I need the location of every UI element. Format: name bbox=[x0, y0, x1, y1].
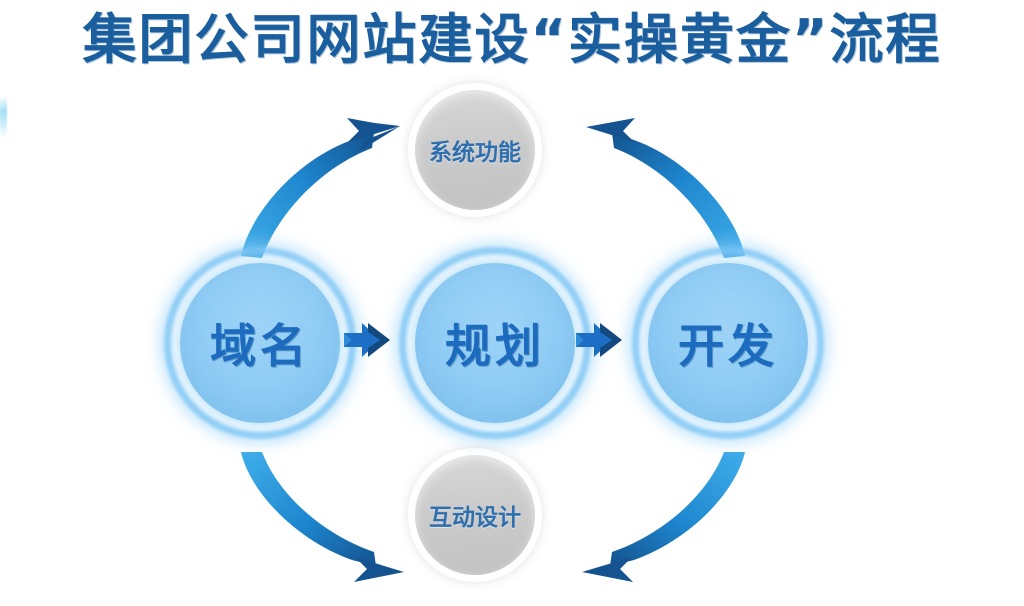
curved-arrow-domain-to-interaction-design bbox=[241, 452, 404, 582]
curved-arrow-dev-to-interaction-design bbox=[582, 452, 745, 582]
node-domain[interactable]: 域名 bbox=[180, 263, 340, 423]
node-plan[interactable]: 规划 bbox=[415, 263, 575, 423]
node-domain-label: 域名 bbox=[210, 310, 310, 376]
node-system-function[interactable]: 系统功能 bbox=[415, 90, 535, 210]
node-interaction-design[interactable]: 互动设计 bbox=[415, 455, 535, 575]
node-interaction-design-label: 互动设计 bbox=[429, 498, 521, 532]
chevron-right-icon-domain-to-plan bbox=[340, 315, 394, 365]
node-plan-disc: 规划 bbox=[415, 263, 575, 423]
node-plan-label: 规划 bbox=[445, 310, 545, 376]
diagram-canvas: 集团公司网站建设“实操黄金”流程 bbox=[0, 0, 1024, 606]
node-dev-label: 开发 bbox=[678, 310, 778, 376]
chevron-right-icon-plan-to-dev bbox=[572, 315, 626, 365]
node-system-function-label: 系统功能 bbox=[429, 133, 521, 167]
node-dev[interactable]: 开发 bbox=[648, 263, 808, 423]
edge-artifact bbox=[0, 96, 7, 138]
page-title: 集团公司网站建设“实操黄金”流程 bbox=[0, 4, 1024, 76]
node-domain-disc: 域名 bbox=[180, 263, 340, 423]
node-dev-disc: 开发 bbox=[648, 263, 808, 423]
curved-arrow-dev-to-system-function bbox=[586, 118, 745, 258]
curved-arrow-domain-to-system-function bbox=[241, 118, 400, 258]
